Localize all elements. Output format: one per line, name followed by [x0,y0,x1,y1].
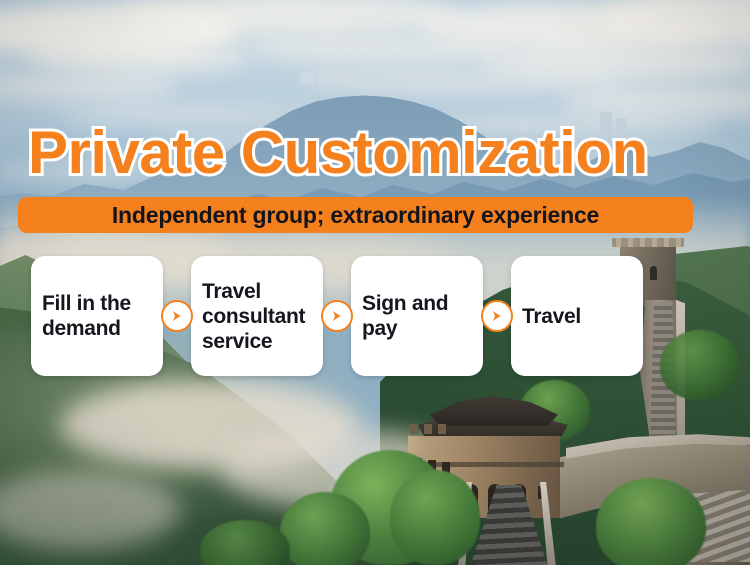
step-card-sign-and-pay[interactable]: Sign and pay [351,256,483,376]
step-card-fill-in-the-demand[interactable]: Fill in the demand [31,256,163,376]
promo-banner: Private Customization Independent group;… [0,0,750,565]
step-card-travel-consultant-service[interactable]: Travel consultant service [191,256,323,376]
subtitle-text: Independent group; extraordinary experie… [112,202,599,229]
chevron-right-circle-icon [321,300,353,332]
process-steps: Fill in the demand Travel consultant ser… [31,255,611,377]
step-card-label: Fill in the demand [31,291,163,341]
chevron-right-circle-icon [161,300,193,332]
step-card-label: Travel [511,304,592,329]
chevron-right-circle-icon [481,300,513,332]
step-card-label: Sign and pay [351,291,483,341]
step-card-travel[interactable]: Travel [511,256,643,376]
step-card-label: Travel consultant service [191,279,323,354]
banner-headline: Private Customization [28,122,728,184]
subtitle-bar: Independent group; extraordinary experie… [18,197,693,233]
